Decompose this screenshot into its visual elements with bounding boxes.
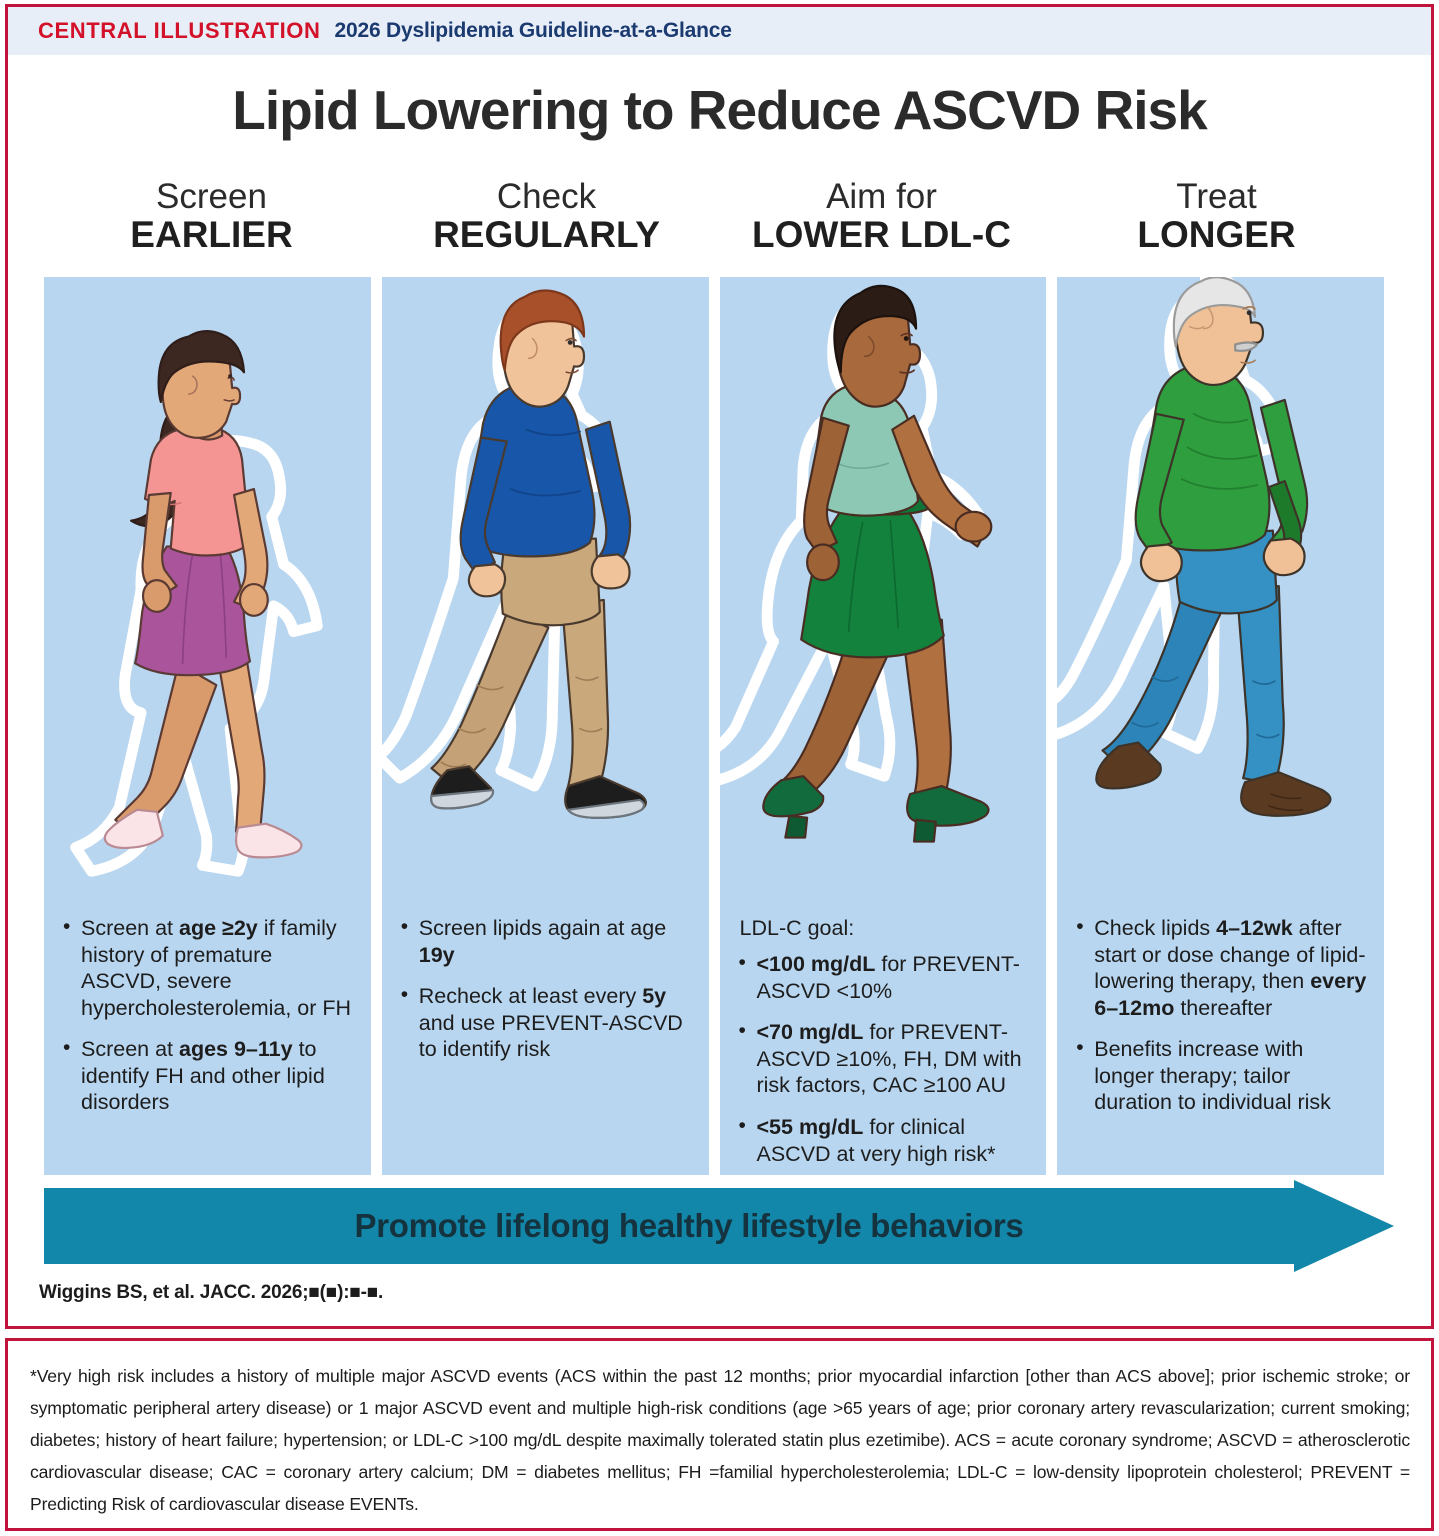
bullet-item: <70 mg/dL for PREVENT-ASCVD ≥10%, FH, DM… — [738, 1019, 1031, 1099]
bullet-item: <55 mg/dL for clinical ASCVD at very hig… — [738, 1114, 1031, 1167]
panel-4-text: Check lipids 4–12wk after start or dose … — [1057, 907, 1384, 1175]
bullet-item: Recheck at least every 5y and use PREVEN… — [400, 983, 693, 1063]
citation: Wiggins BS, et al. JACC. 2026;■(■):■-■. — [39, 1282, 383, 1304]
heading-emphasis: LOWER LDL-C — [714, 215, 1049, 255]
heading-emphasis: LONGER — [1049, 215, 1384, 255]
central-illustration-header: CENTRAL ILLUSTRATION 2026 Dyslipidemia G… — [8, 7, 1431, 55]
bullet-item: Screen at ages 9–11y to identify FH and … — [62, 1036, 355, 1116]
heading-verb: Screen — [44, 178, 379, 215]
heading-emphasis: EARLIER — [44, 215, 379, 255]
panel-2-text: Screen lipids again at age 19yRecheck at… — [382, 907, 709, 1175]
page-title: Lipid Lowering to Reduce ASCVD Risk — [0, 78, 1439, 142]
column-headings: Screen EARLIER Check REGULARLY Aim for L… — [44, 178, 1384, 270]
bullet-item: Benefits increase with longer therapy; t… — [1075, 1036, 1368, 1116]
lifestyle-banner: Promote lifelong healthy lifestyle behav… — [44, 1180, 1394, 1272]
panel-screen-earlier: Screen at age ≥2y if family history of p… — [44, 277, 371, 1175]
ldl-goal-lead: LDL-C goal: — [740, 915, 1031, 941]
walking-older-man-illustration — [1057, 277, 1384, 895]
central-illustration-badge: CENTRAL ILLUSTRATION — [38, 18, 321, 44]
column-heading-check: Check REGULARLY — [379, 178, 714, 270]
heading-verb: Treat — [1049, 178, 1384, 215]
bullet-item: Screen at age ≥2y if family history of p… — [62, 915, 355, 1021]
column-heading-aim: Aim for LOWER LDL-C — [714, 178, 1049, 270]
heading-verb: Check — [379, 178, 714, 215]
heading-emphasis: REGULARLY — [379, 215, 714, 255]
column-heading-screen: Screen EARLIER — [44, 178, 379, 270]
walking-teen-boy-illustration — [382, 277, 709, 895]
banner-label: Promote lifelong healthy lifestyle behav… — [44, 1180, 1334, 1272]
column-heading-treat: Treat LONGER — [1049, 178, 1384, 270]
bullet-item: <100 mg/dL for PREVENT-ASCVD <10% — [738, 951, 1031, 1004]
panel-1-bullets: Screen at age ≥2y if family history of p… — [62, 915, 355, 1116]
footnote-text: *Very high risk includes a history of mu… — [30, 1360, 1410, 1520]
walking-girl-illustration — [44, 277, 371, 895]
panel-treat-longer: Check lipids 4–12wk after start or dose … — [1057, 277, 1384, 1175]
bullet-item: Screen lipids again at age 19y — [400, 915, 693, 968]
heading-verb: Aim for — [714, 178, 1049, 215]
panel-4-bullets: Check lipids 4–12wk after start or dose … — [1075, 915, 1368, 1116]
central-illustration-page: CENTRAL ILLUSTRATION 2026 Dyslipidemia G… — [0, 0, 1439, 1536]
panel-3-text: LDL-C goal: <100 mg/dL for PREVENT-ASCVD… — [720, 907, 1047, 1175]
bullet-item: Check lipids 4–12wk after start or dose … — [1075, 915, 1368, 1021]
panel-2-bullets: Screen lipids again at age 19yRecheck at… — [400, 915, 693, 1063]
panel-check-regularly: Screen lipids again at age 19yRecheck at… — [382, 277, 709, 1175]
guideline-subtitle: 2026 Dyslipidemia Guideline-at-a-Glance — [335, 19, 732, 43]
panel-3-bullets: <100 mg/dL for PREVENT-ASCVD <10%<70 mg/… — [738, 951, 1031, 1167]
panel-1-text: Screen at age ≥2y if family history of p… — [44, 907, 371, 1175]
walking-woman-illustration — [720, 277, 1047, 895]
panel-row: Screen at age ≥2y if family history of p… — [44, 277, 1384, 1175]
panel-aim-lower-ldl: LDL-C goal: <100 mg/dL for PREVENT-ASCVD… — [720, 277, 1047, 1175]
